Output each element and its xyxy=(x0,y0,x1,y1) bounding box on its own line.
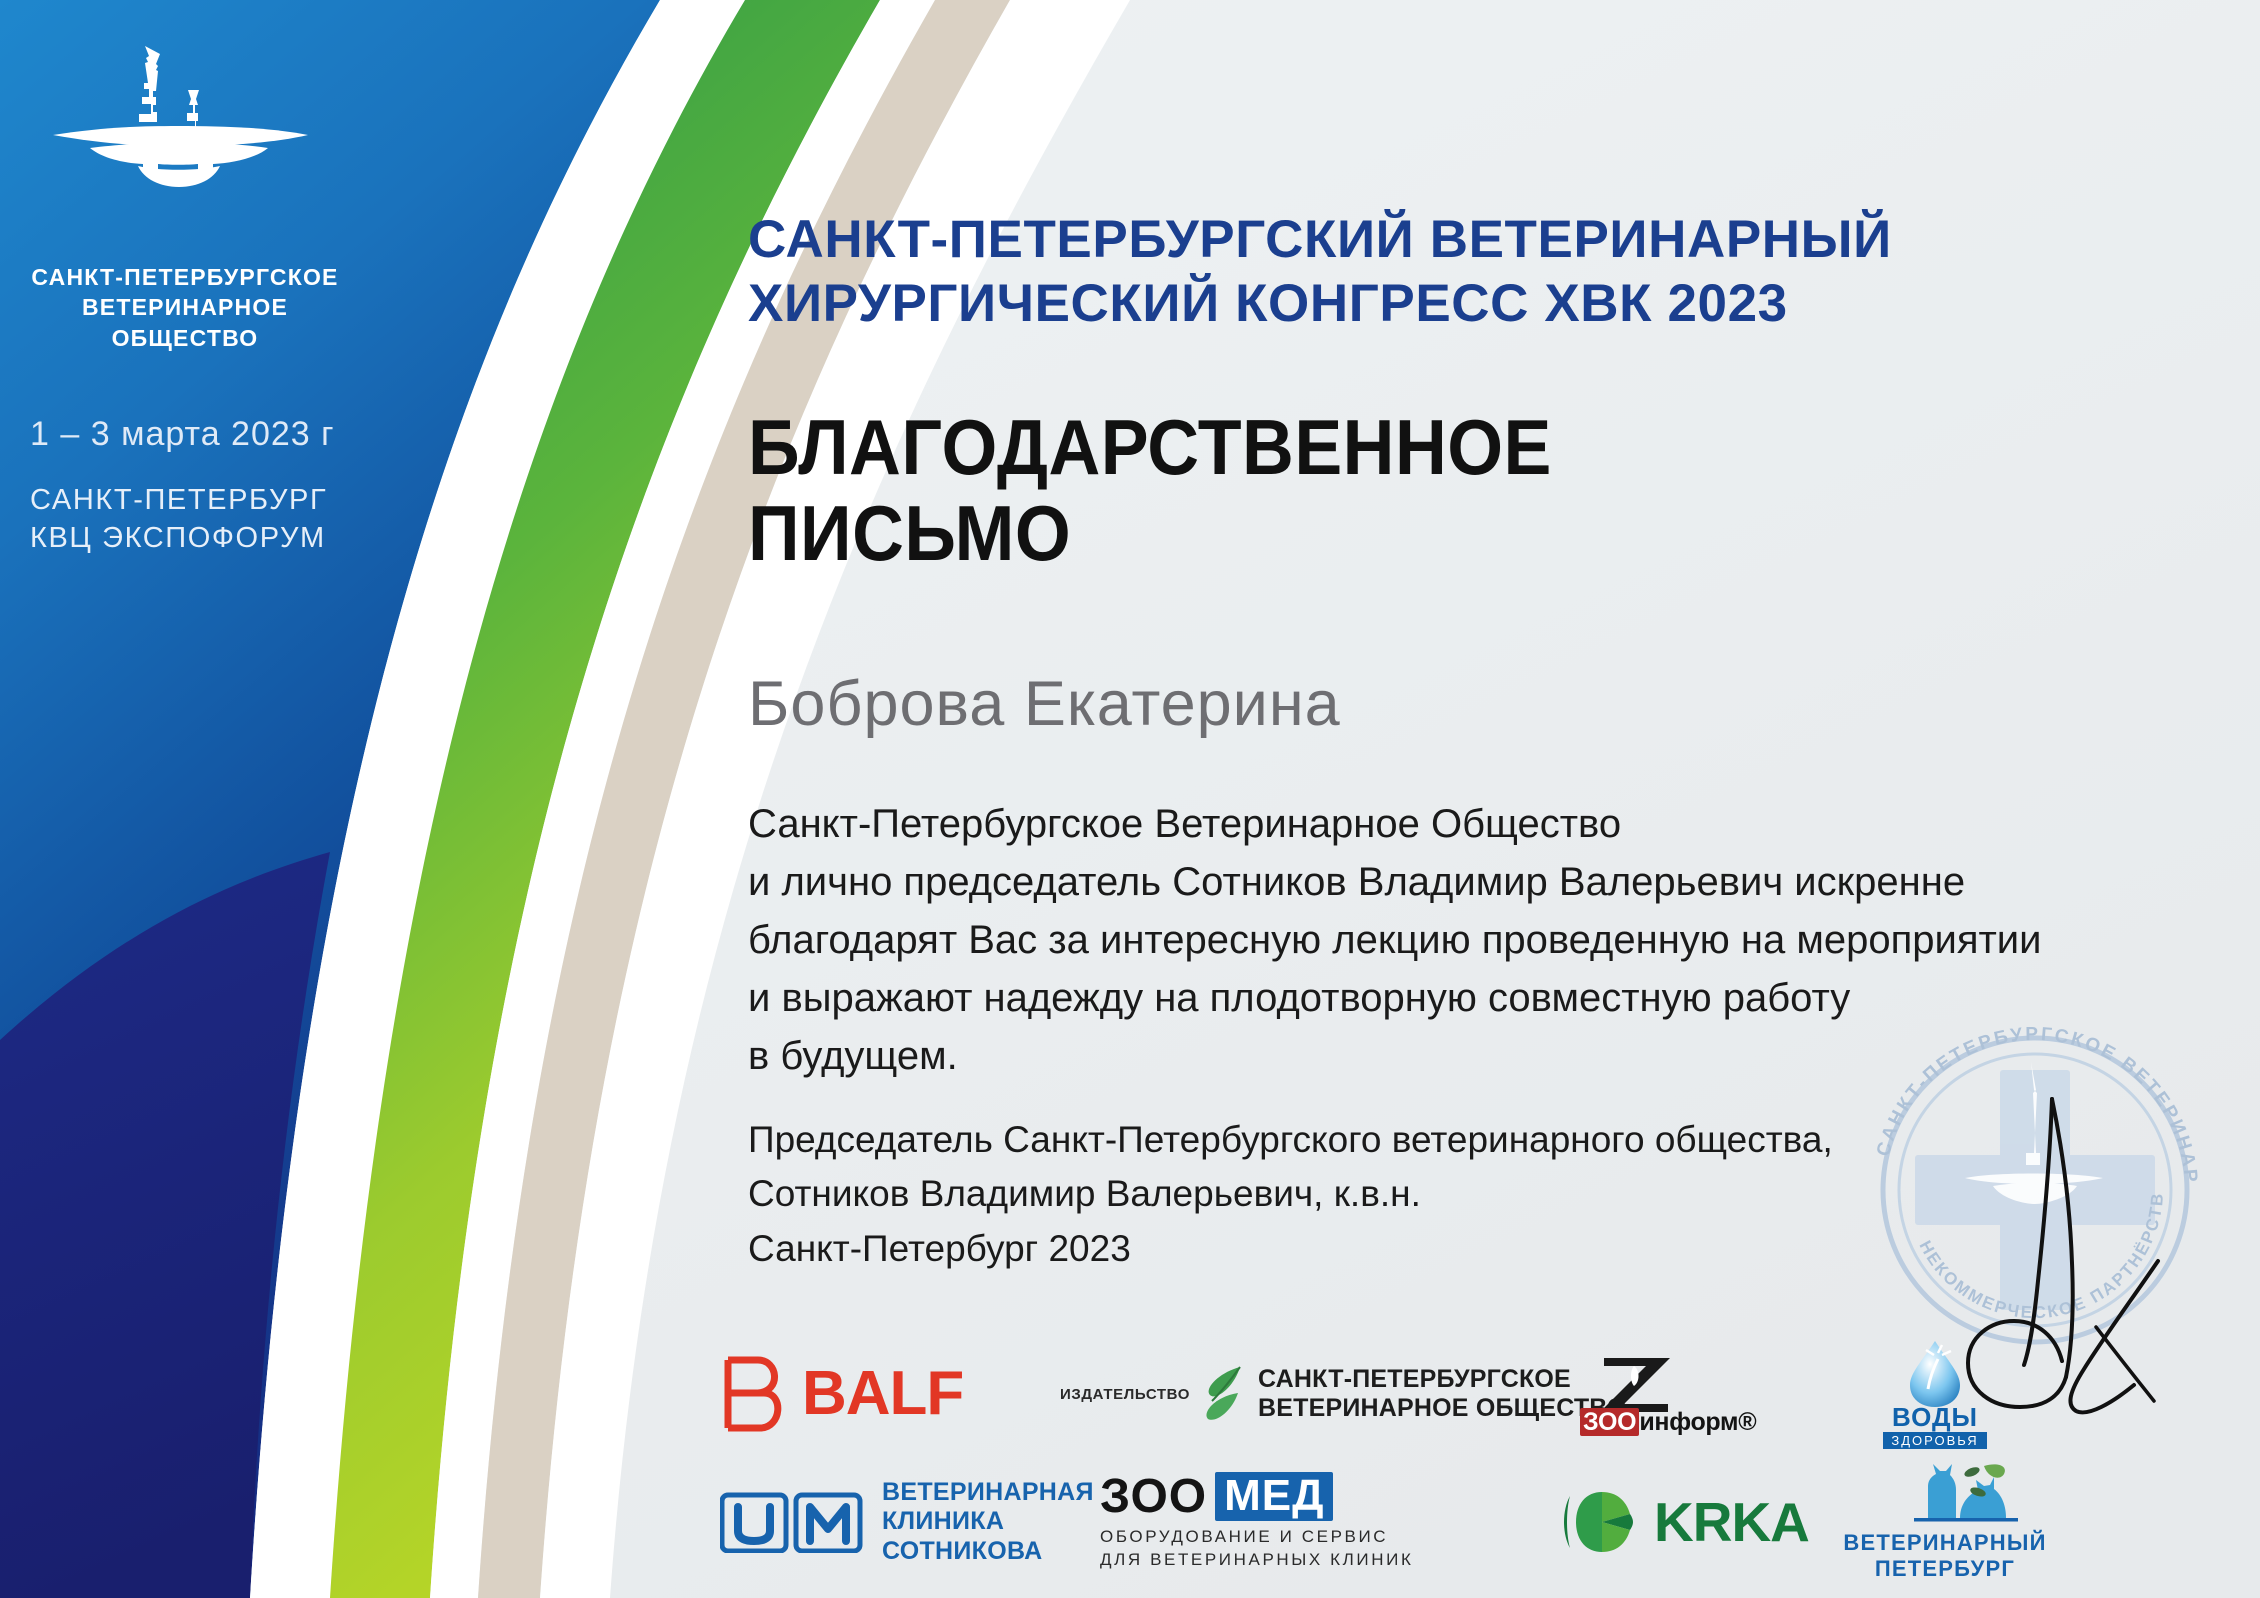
zoomed-word-2: МЕД xyxy=(1215,1472,1333,1520)
z-monogram-icon xyxy=(1594,1352,1680,1416)
publisher-name-line-1: САНКТ-ПЕТЕРБУРГСКОЕ xyxy=(1258,1365,1627,1394)
org-name-line-1: САНКТ-ПЕТЕРБУРГСКОЕ xyxy=(10,262,360,292)
congress-title: САНКТ-ПЕТЕРБУРГСКИЙ ВЕТЕРИНАРНЫЙ ХИРУРГИ… xyxy=(748,208,2088,335)
event-venue-line-2: КВЦ ЭКСПОФОРУМ xyxy=(30,520,327,558)
peter-and-paul-fortress-spire-icon xyxy=(28,40,328,210)
veterinarny-peterburg-line-1: ВЕТЕРИНАРНЫЙ xyxy=(1843,1530,2046,1556)
sponsor-vet-klinika-sotnikova: ВЕТЕРИНАРНАЯ КЛИНИКА СОТНИКОВА xyxy=(720,1463,1094,1581)
green-leaf-icon xyxy=(1200,1365,1248,1423)
handwritten-signature-icon xyxy=(1900,1085,2220,1415)
publisher-name-line-2: ВЕТЕРИНАРНОЕ ОБЩЕСТВО xyxy=(1258,1394,1627,1423)
vet-klinika-line-3: СОТНИКОВА xyxy=(882,1537,1094,1567)
publisher-name: САНКТ-ПЕТЕРБУРГСКОЕ ВЕТЕРИНАРНОЕ ОБЩЕСТВ… xyxy=(1258,1365,1627,1423)
veterinarny-peterburg-name: ВЕТЕРИНАРНЫЙ ПЕТЕРБУРГ xyxy=(1843,1530,2046,1582)
event-venue-line-1: САНКТ-ПЕТЕРБУРГ xyxy=(30,482,327,520)
event-dates: 1 – 3 марта 2023 г xyxy=(30,415,335,454)
document-heading-line-1: БЛАГОДАРСТВЕННОЕ xyxy=(748,405,1981,491)
two-cats-icon xyxy=(1870,1462,2020,1528)
org-name-line-3: ОБЩЕСТВО xyxy=(10,323,360,353)
congress-title-line-2: ХИРУРГИЧЕСКИЙ КОНГРЕСС ХВК 2023 xyxy=(748,272,2088,336)
sponsor-row-2: ВЕТЕРИНАРНАЯ КЛИНИКА СОТНИКОВА ЗОО МЕД О… xyxy=(720,1463,2180,1581)
sponsor-krka: KRKA xyxy=(1560,1463,1809,1581)
sidebar: САНКТ-ПЕТЕРБУРГСКОЕ ВЕТЕРИНАРНОЕ ОБЩЕСТВ… xyxy=(0,0,440,1598)
sponsor-zoomed: ЗОО МЕД ОБОРУДОВАНИЕ И СЕРВИС ДЛЯ ВЕТЕРИ… xyxy=(1100,1463,1413,1581)
event-venue: САНКТ-ПЕТЕРБУРГ КВЦ ЭКСПОФОРУМ xyxy=(30,482,327,557)
sponsor-spb-vet-publisher: ИЗДАТЕЛЬСТВО САНКТ-ПЕТЕРБУРГСКОЕ ВЕТЕРИН… xyxy=(1060,1335,1627,1453)
zooinform-suffix: ® xyxy=(1738,1408,1756,1436)
congress-title-line-1: САНКТ-ПЕТЕРБУРГСКИЙ ВЕТЕРИНАРНЫЙ xyxy=(748,208,2088,272)
zooinform-wordmark: ЗООинформ® xyxy=(1580,1408,1756,1437)
body-line-1: Санкт-Петербургское Ветеринарное Обществ… xyxy=(748,795,2148,853)
vet-klinika-line-2: КЛИНИКА xyxy=(882,1507,1094,1537)
vet-klinika-line-1: ВЕТЕРИНАРНАЯ xyxy=(882,1478,1094,1508)
document-heading: БЛАГОДАРСТВЕННОЕ ПИСЬМО xyxy=(748,405,1981,577)
sponsor-zooinform: ЗООинформ® xyxy=(1580,1335,1756,1453)
body-text: Санкт-Петербургское Ветеринарное Обществ… xyxy=(748,795,2148,1085)
zoomed-tagline: ОБОРУДОВАНИЕ И СЕРВИС ДЛЯ ВЕТЕРИНАРНЫХ К… xyxy=(1100,1526,1413,1572)
krka-wordmark: KRKA xyxy=(1654,1495,1809,1550)
balf-wordmark: BALF xyxy=(802,1363,963,1425)
vody-subtitle: ЗДОРОВЬЯ xyxy=(1883,1432,1986,1449)
document-heading-line-2: ПИСЬМО xyxy=(748,491,1981,577)
body-line-5: в будущем. xyxy=(748,1027,2148,1085)
body-line-4: и выражают надежду на плодотворную совме… xyxy=(748,969,2148,1027)
recipient-name: Боброва Екатерина xyxy=(748,668,1341,740)
zoomed-tagline-line-1: ОБОРУДОВАНИЕ И СЕРВИС xyxy=(1100,1526,1413,1549)
org-name-line-2: ВЕТЕРИНАРНОЕ xyxy=(10,292,360,322)
zoomed-word-1: ЗОО xyxy=(1100,1473,1207,1521)
sidebar-org-name: САНКТ-ПЕТЕРБУРГСКОЕ ВЕТЕРИНАРНОЕ ОБЩЕСТВ… xyxy=(10,262,360,353)
vm-monogram-icon xyxy=(720,1491,870,1553)
certificate-page: САНКТ-ПЕТЕРБУРГСКОЕ ВЕТЕРИНАРНОЕ ОБЩЕСТВ… xyxy=(0,0,2260,1598)
sponsor-balf: BALF xyxy=(720,1335,963,1453)
zooinform-name: информ xyxy=(1639,1408,1738,1436)
krka-circle-icon xyxy=(1560,1486,1640,1558)
zoomed-tagline-line-2: ДЛЯ ВЕТЕРИНАРНЫХ КЛИНИК xyxy=(1100,1549,1413,1572)
body-line-2: и лично председатель Сотников Владимир В… xyxy=(748,853,2148,911)
sponsor-veterinarny-peterburg: ВЕТЕРИНАРНЫЙ ПЕТЕРБУРГ xyxy=(1850,1463,2040,1581)
body-line-3: благодарят Вас за интересную лекцию пров… xyxy=(748,911,2148,969)
veterinarny-peterburg-line-2: ПЕТЕРБУРГ xyxy=(1843,1556,2046,1582)
zoomed-wordmark: ЗОО МЕД xyxy=(1100,1472,1333,1520)
publisher-label: ИЗДАТЕЛЬСТВО xyxy=(1060,1386,1190,1403)
zooinform-prefix: ЗОО xyxy=(1580,1408,1639,1436)
balf-b-monogram-icon xyxy=(720,1355,788,1433)
vet-klinika-name: ВЕТЕРИНАРНАЯ КЛИНИКА СОТНИКОВА xyxy=(882,1478,1094,1567)
